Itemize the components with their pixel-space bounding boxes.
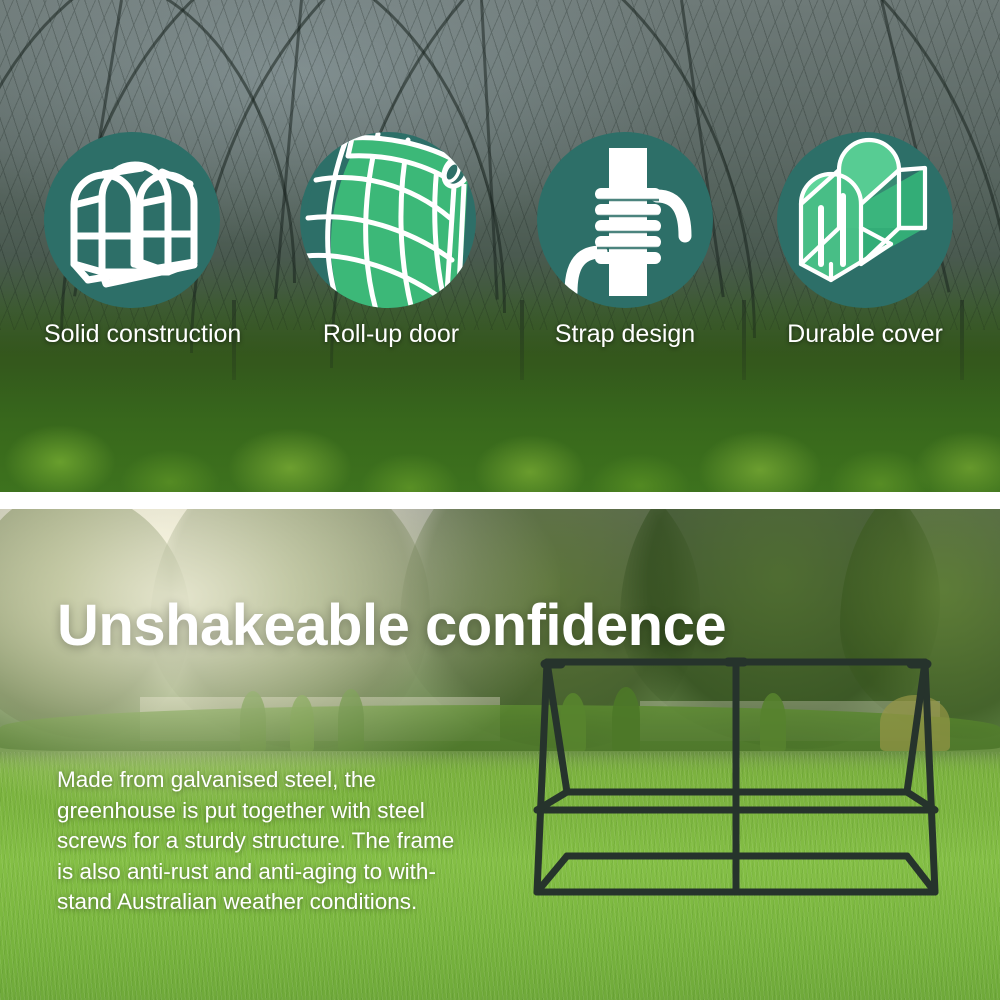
durable-cover-icon — [777, 132, 953, 308]
feature-item-roll-up-door[interactable]: Roll-up door — [300, 132, 476, 347]
roll-up-door-icon — [300, 132, 476, 308]
panel-divider — [0, 492, 1000, 509]
feature-item-durable-cover[interactable]: Durable cover — [777, 132, 953, 347]
feature-label: Durable cover — [777, 322, 953, 347]
page-headline: Unshakeable confidence — [57, 597, 726, 654]
strap-design-icon — [537, 132, 713, 308]
feature-item-strap-design[interactable]: Strap design — [537, 132, 713, 347]
feature-item-solid-construction[interactable]: Solid construction — [44, 132, 220, 347]
top-feature-panel: Solid construction — [0, 0, 1000, 492]
headline-line-1: Unshakeable — [57, 593, 409, 658]
feature-label: Roll-up door — [306, 322, 476, 347]
body-copy: Made from galvanised steel, the greenhou… — [57, 765, 467, 918]
sun-flare — [0, 509, 560, 809]
greenhouse-frame-product — [515, 650, 980, 925]
product-marketing-image: Solid construction — [0, 0, 1000, 1000]
headline-line-2: confidence — [425, 593, 726, 658]
feature-label: Solid construction — [44, 322, 220, 347]
feature-list: Solid construction — [0, 0, 1000, 492]
bottom-product-panel: Unshakeable confidence Made from galvani… — [0, 509, 1000, 1000]
greenhouse-frame-icon — [44, 132, 220, 308]
feature-label: Strap design — [537, 322, 713, 347]
